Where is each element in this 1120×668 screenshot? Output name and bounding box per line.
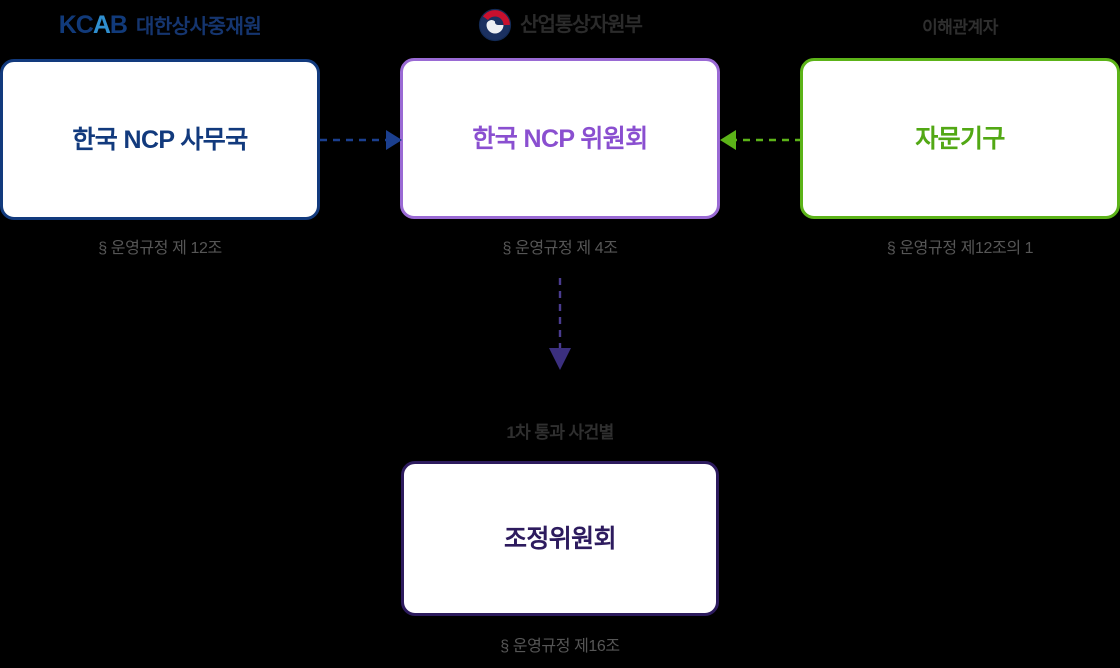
caption-committee: § 운영규정 제 4조: [400, 234, 720, 258]
stakeholder-label: 이해관계자: [922, 13, 998, 38]
kcab-mark-pre: KC: [59, 11, 93, 39]
diagram-canvas: KCAB 대한상사중재원 산업통상자원부 이해관계자 한국 NCP 사무국 § …: [0, 0, 1120, 668]
node-secretariat[interactable]: 한국 NCP 사무국: [0, 59, 320, 220]
node-mediation-title: 조정위원회: [504, 524, 616, 554]
kcab-logo-icon: KCAB 대한상사중재원: [59, 13, 262, 38]
kcab-logo: KCAB 대한상사중재원: [0, 8, 320, 42]
kcab-wordmark: 대한상사중재원: [136, 17, 261, 37]
korea-government-taegeuk-emblem-icon: [478, 8, 512, 42]
connector-secretariat-to-committee: [320, 128, 402, 152]
node-mediation[interactable]: 조정위원회: [401, 461, 719, 616]
kcab-mark-accent: A: [93, 11, 110, 39]
node-advisory[interactable]: 자문기구: [800, 58, 1120, 219]
caption-secretariat: § 운영규정 제 12조: [0, 234, 320, 258]
motie-logo: 산업통상자원부: [400, 8, 720, 42]
connector-label-first-pass: 1차 통과 사건별: [400, 418, 720, 443]
caption-mediation: § 운영규정 제16조: [400, 632, 720, 656]
node-secretariat-title: 한국 NCP 사무국: [72, 125, 247, 155]
kcab-mark-post: B: [110, 11, 127, 39]
motie-logo-group: 산업통상자원부: [478, 8, 642, 42]
connector-advisory-to-committee: [720, 128, 802, 152]
node-advisory-title: 자문기구: [915, 124, 1005, 154]
kcab-mark: KCAB: [59, 13, 127, 38]
stakeholder-header: 이해관계자: [800, 8, 1120, 42]
connector-committee-to-mediation: [545, 278, 575, 370]
node-committee[interactable]: 한국 NCP 위원회: [400, 58, 720, 219]
caption-advisory: § 운영규정 제12조의 1: [800, 234, 1120, 258]
node-committee-title: 한국 NCP 위원회: [472, 124, 647, 154]
motie-wordmark: 산업통상자원부: [520, 15, 642, 35]
